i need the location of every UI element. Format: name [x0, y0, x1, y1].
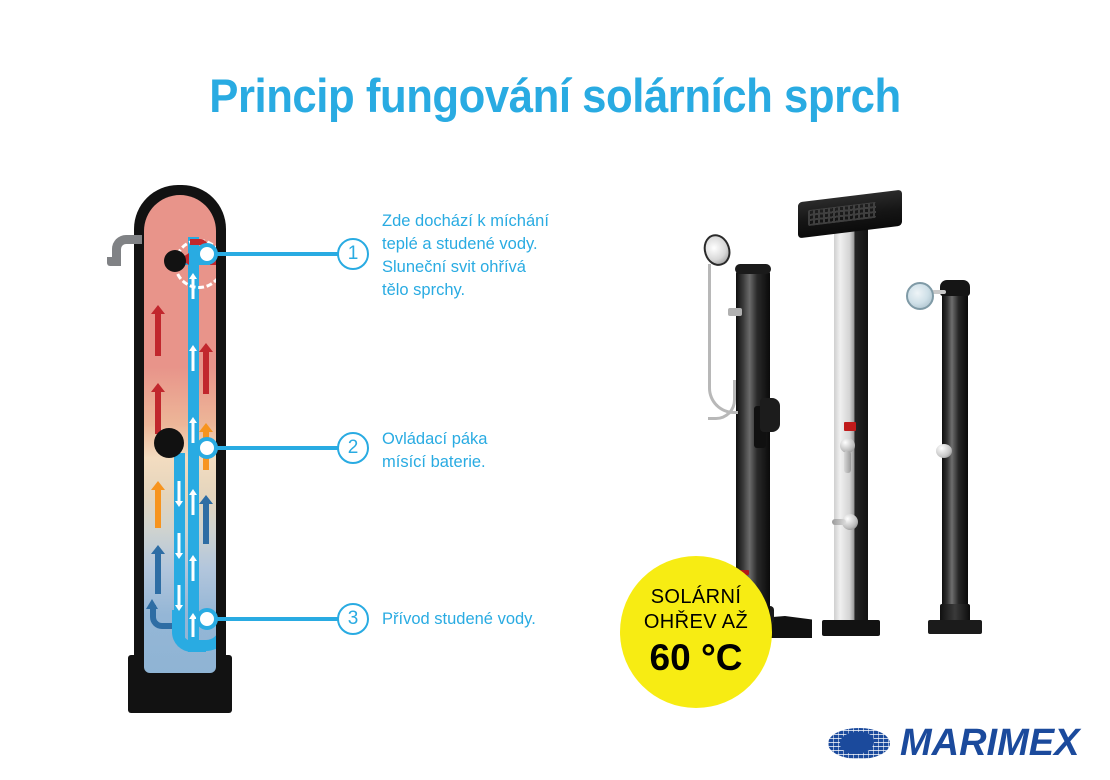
product1-hose-lower [708, 380, 736, 420]
product2-upper-valve-handle [844, 451, 851, 473]
infographic-canvas: Princip fungování solárních sprch [0, 0, 1110, 780]
product2-base-plate [822, 620, 880, 636]
mixer-lever-ball [154, 428, 184, 458]
solar-heating-badge: SOLÁRNÍ OHŘEV AŽ 60 °C [620, 556, 772, 708]
badge-temperature: 60 °C [650, 637, 743, 679]
callout-text-3: Přívod studené vody. [382, 608, 612, 631]
product3-column [942, 290, 968, 626]
product3-valve [936, 444, 952, 458]
globe-icon [828, 728, 890, 759]
marimex-logo: MARIMEX [828, 722, 1068, 766]
callout-leader-2 [214, 446, 340, 450]
badge-line-1: SOLÁRNÍ [651, 585, 742, 610]
product3-showerhead-arm [932, 290, 946, 294]
badge-line-2: OHŘEV AŽ [644, 610, 748, 635]
shower-spout-tip [107, 257, 121, 266]
product1-mixer-lever [760, 398, 780, 432]
callout-number-3[interactable]: 3 [337, 603, 369, 635]
product3-showerhead [906, 282, 934, 310]
product1-hose-bracket [728, 308, 742, 316]
circulation-swirl-head-icon [146, 599, 158, 609]
callout-text-2: Ovládací páka mísící baterie. [382, 428, 602, 474]
product2-lower-valve-handle [832, 519, 846, 525]
callout-text-1: Zde dochází k míchání teplé a studené vo… [382, 210, 602, 302]
callout-number-2[interactable]: 2 [337, 432, 369, 464]
product2-red-label [844, 422, 856, 431]
page-title: Princip fungování solárních sprch [39, 68, 1071, 123]
callout-leader-3 [214, 617, 340, 621]
solar-shower-cross-section [120, 185, 240, 715]
product3-base-plate [928, 620, 982, 634]
callout-leader-1 [214, 252, 340, 256]
product1-cap [735, 264, 771, 274]
mixer-knob [164, 250, 186, 272]
callout-number-1[interactable]: 1 [337, 238, 369, 270]
product-silver-square-solar-shower [792, 196, 912, 646]
logo-wordmark: MARIMEX [900, 722, 1079, 765]
product-slim-dark-solar-shower [920, 268, 1010, 648]
